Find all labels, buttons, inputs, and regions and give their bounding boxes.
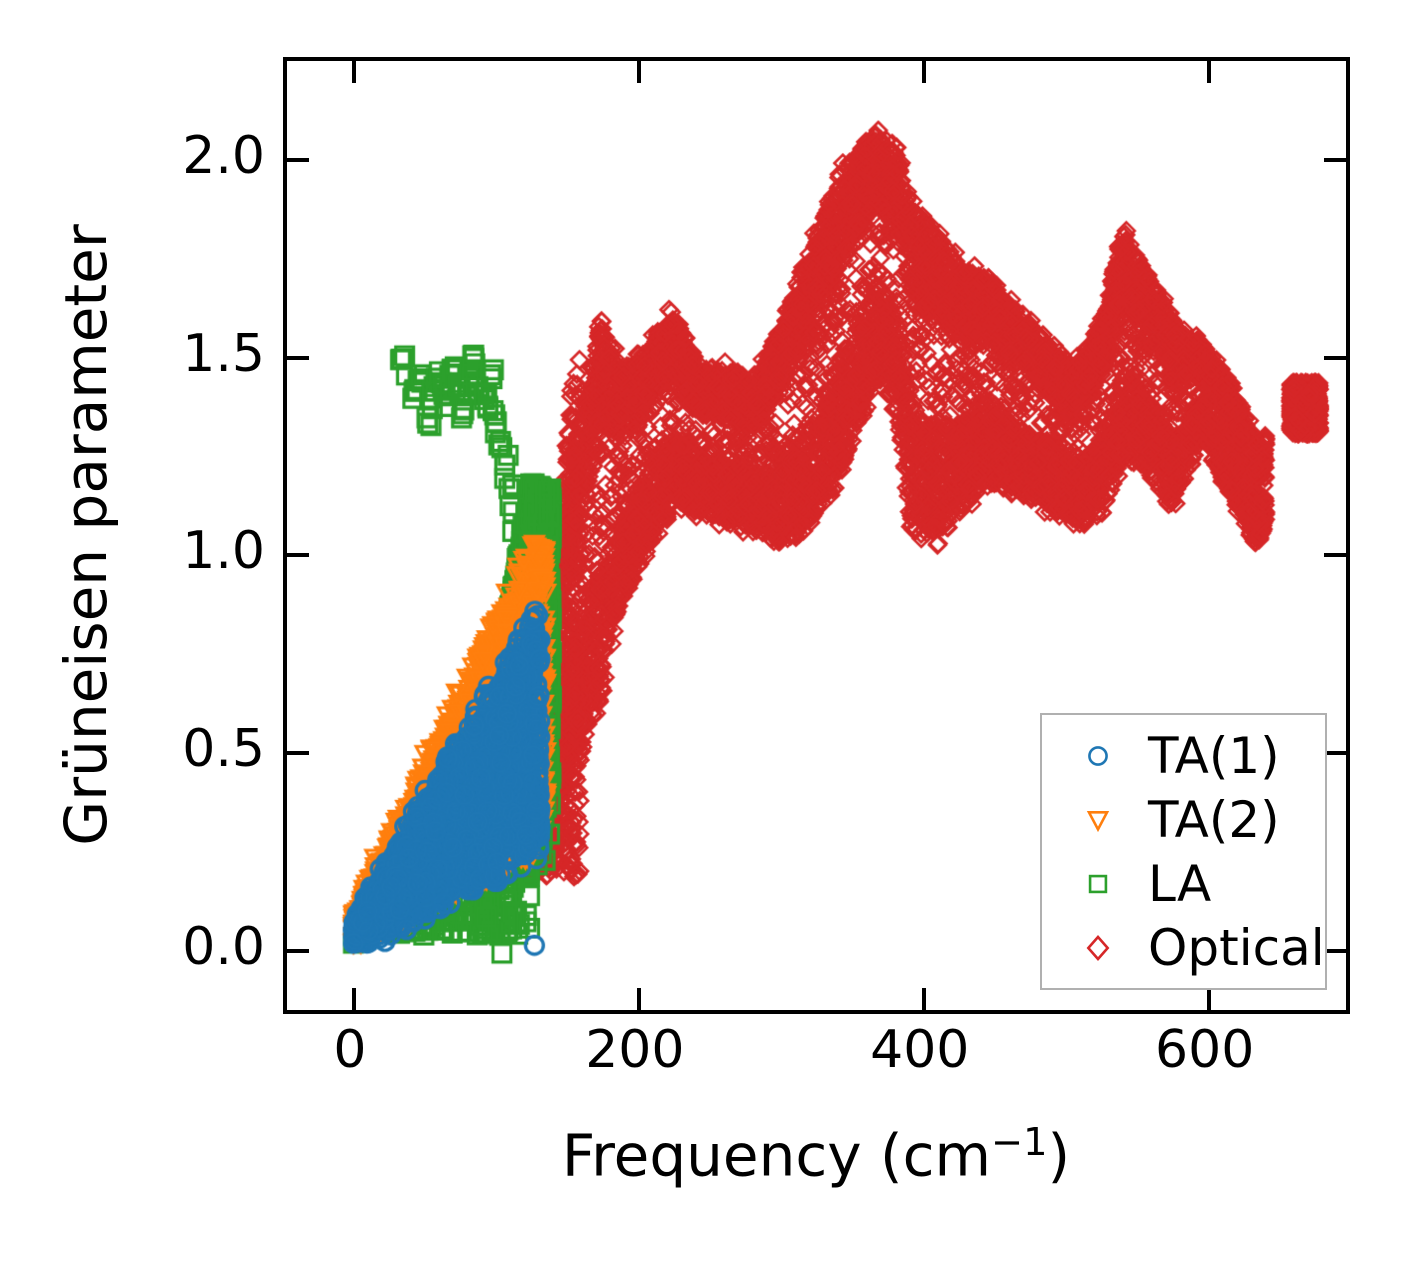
legend-item-label: LA <box>1148 859 1211 909</box>
legend-item-label: Optical <box>1148 923 1325 973</box>
y-tick-label-0.5: 0.5 <box>182 723 265 775</box>
legend[interactable]: TA(1)TA(2)LAOptical <box>1040 713 1327 990</box>
legend-item-ta1[interactable]: TA(1) <box>1042 724 1325 788</box>
y-tick-label-1.5: 1.5 <box>182 328 265 380</box>
x-tick-top-0 <box>352 61 356 83</box>
x-axis-title: Frequency (cm−1) <box>562 1120 1070 1189</box>
y-tick-1.5 <box>287 356 309 360</box>
y-tick-0.0 <box>287 949 309 953</box>
legend-item-ta2[interactable]: TA(2) <box>1042 788 1325 852</box>
x-axis-title-base: Frequency (cm <box>562 1121 991 1189</box>
x-tick-0 <box>352 988 356 1010</box>
y-axis-title: Grüneisen parameter <box>52 224 120 845</box>
y-tick-1.0 <box>287 553 309 557</box>
y-tick-right-1.5 <box>1324 356 1346 360</box>
circle-marker-icon <box>1076 734 1120 778</box>
x-tick-600 <box>1207 988 1211 1010</box>
y-tick-label-0.0: 0.0 <box>182 921 265 973</box>
diamond-marker-icon <box>1076 926 1120 970</box>
x-tick-label-600: 600 <box>1155 1024 1254 1076</box>
y-tick-right-2.0 <box>1324 158 1346 162</box>
y-tick-0.5 <box>287 751 309 755</box>
x-tick-top-600 <box>1207 61 1211 83</box>
legend-item-label: TA(1) <box>1148 731 1280 781</box>
legend-item-optical[interactable]: Optical <box>1042 916 1325 980</box>
x-tick-label-0: 0 <box>333 1024 366 1076</box>
y-tick-right-0.0 <box>1324 949 1346 953</box>
y-tick-right-1.0 <box>1324 553 1346 557</box>
y-tick-right-0.5 <box>1324 751 1346 755</box>
x-tick-label-200: 200 <box>585 1024 684 1076</box>
triangle_down-marker-icon <box>1076 798 1120 842</box>
y-tick-label-2.0: 2.0 <box>182 130 265 182</box>
legend-item-la[interactable]: LA <box>1042 852 1325 916</box>
figure: Grüneisen parameter 0.00.51.01.52.0 0200… <box>0 0 1413 1264</box>
x-tick-label-400: 400 <box>870 1024 969 1076</box>
x-axis-title-tail: ) <box>1047 1121 1070 1189</box>
x-tick-top-200 <box>637 61 641 83</box>
y-tick-2.0 <box>287 158 309 162</box>
x-axis-title-superscript: −1 <box>991 1120 1047 1165</box>
x-tick-400 <box>922 988 926 1010</box>
y-tick-label-1.0: 1.0 <box>182 525 265 577</box>
square-marker-icon <box>1076 862 1120 906</box>
legend-item-label: TA(2) <box>1148 795 1280 845</box>
x-tick-top-400 <box>922 61 926 83</box>
x-tick-200 <box>637 988 641 1010</box>
